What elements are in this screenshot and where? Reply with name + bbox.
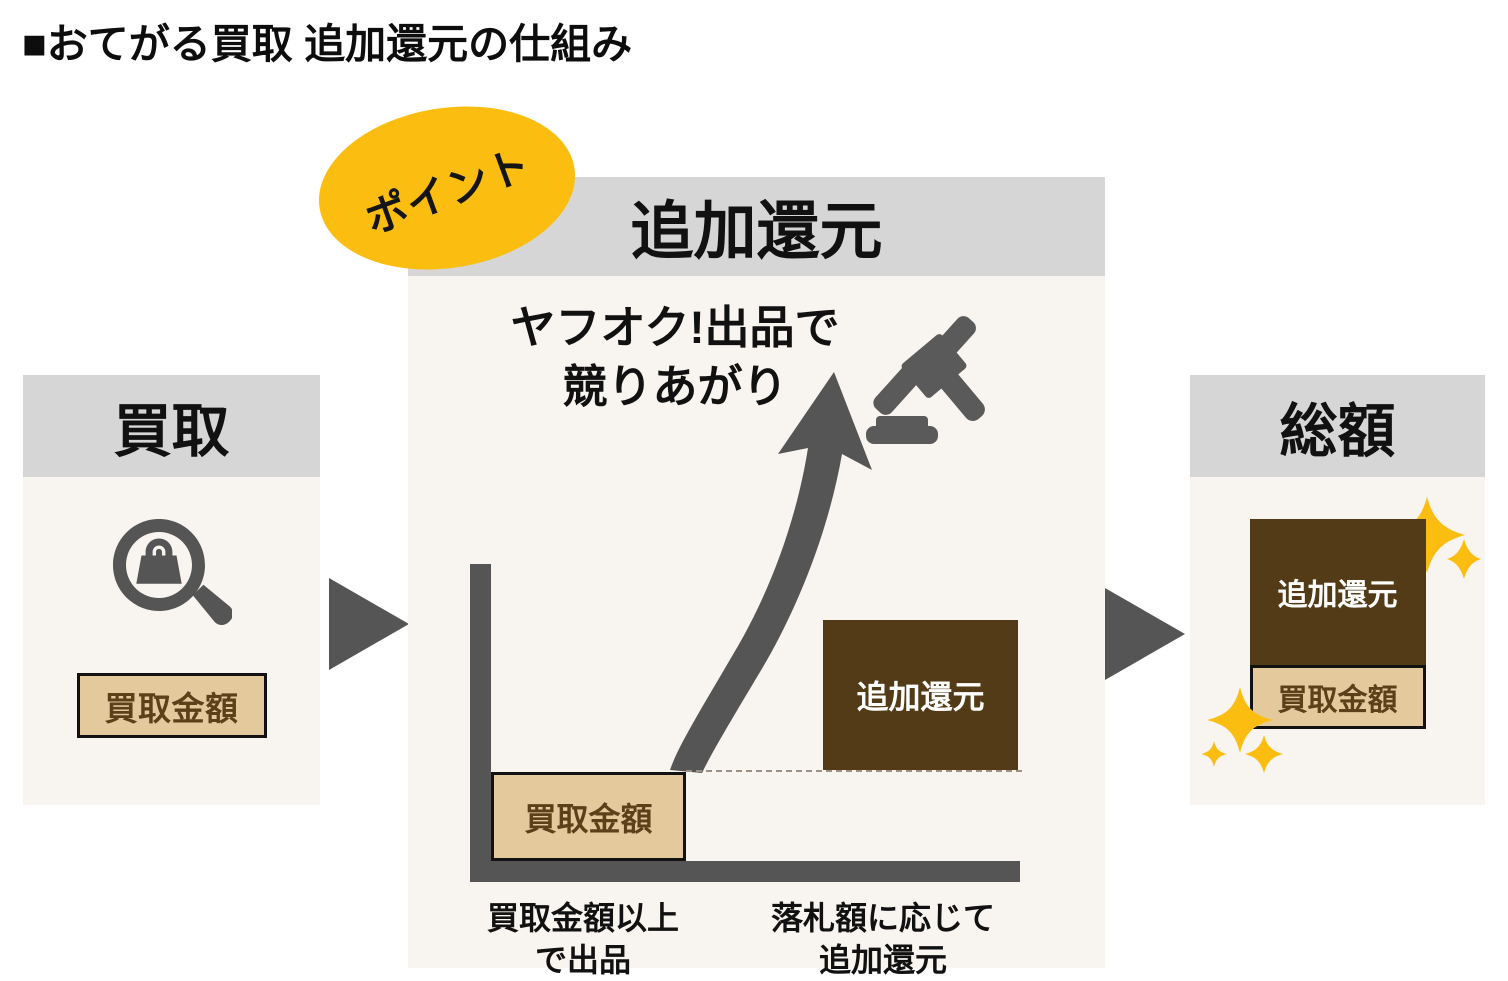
chart-buyout-box: 買取金額 <box>491 772 686 861</box>
chart-dashed-baseline <box>686 770 1022 772</box>
panel-total-header: 総額 <box>1190 375 1485 477</box>
total-reward-box: 追加還元 <box>1250 519 1426 665</box>
chart-reward-box: 追加還元 <box>823 620 1018 770</box>
panel-buyout: 買取 買取金額 <box>23 375 320 805</box>
panel-buyout-body: 買取金額 <box>23 477 320 805</box>
caption-reward-line2: 追加還元 <box>738 940 1028 981</box>
caption-reward: 落札額に応じて 追加還元 <box>738 898 1028 981</box>
connector-arrow-1-icon <box>329 578 409 670</box>
point-badge-label: ポイント <box>356 130 539 246</box>
panel-extra-reward: 追加還元 ヤフオク!出品で 競りあがり <box>408 177 1105 968</box>
sparkle-bottom-left-icon <box>1202 679 1302 784</box>
chart-y-axis <box>470 564 491 882</box>
chart-x-axis <box>470 861 1020 882</box>
caption-listing-line2: で出品 <box>458 940 708 981</box>
panel-extra-reward-body: ヤフオク!出品で 競りあがり <box>408 276 1105 968</box>
reward-growth-chart: 買取金額 追加還元 買取金額以上 で出品 落札額に応じて 追加還元 <box>408 276 1105 968</box>
caption-reward-line1: 落札額に応じて <box>738 898 1028 940</box>
caption-listing-line1: 買取金額以上 <box>458 898 708 940</box>
caption-listing: 買取金額以上 で出品 <box>458 898 708 981</box>
bag-search-icon <box>112 519 232 652</box>
page-title: ■おてがる買取 追加還元の仕組み <box>22 10 632 70</box>
buyout-amount-box: 買取金額 <box>77 673 267 738</box>
panel-total-body: 追加還元 買取金額 <box>1190 477 1485 805</box>
panel-total: 総額 追加還元 買取金額 <box>1190 375 1485 805</box>
connector-arrow-2-icon <box>1105 588 1185 680</box>
panel-buyout-header: 買取 <box>23 375 320 477</box>
